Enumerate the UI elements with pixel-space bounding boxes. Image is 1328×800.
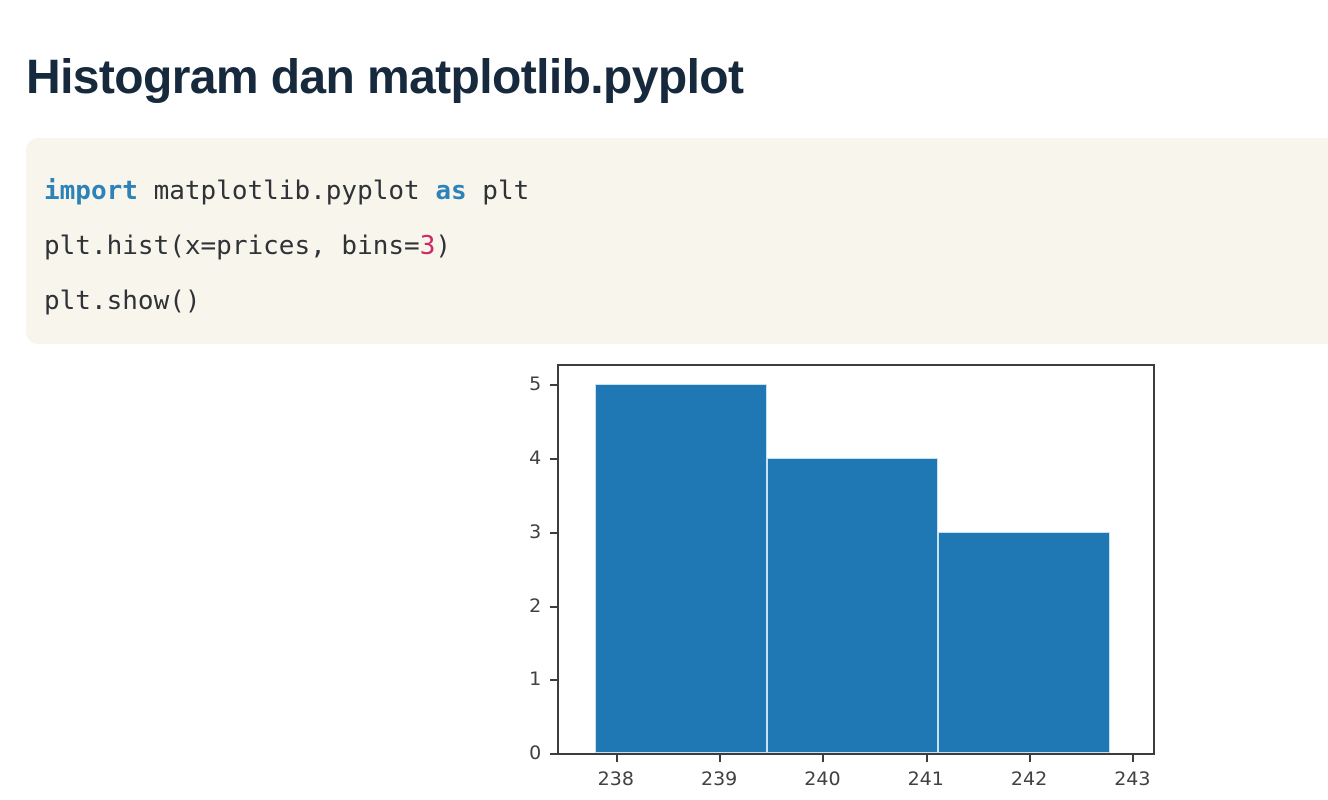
code-token-keyword-as: as [435,176,466,206]
y-axis-tick-label: 2 [529,595,541,617]
code-token-alias: plt [467,176,530,206]
code-line-1: import matplotlib.pyplot as plt [44,164,1328,219]
y-axis-tick [550,532,559,534]
plot-area [559,366,1153,753]
x-axis-tick [719,753,721,762]
y-axis-tick [550,384,559,386]
histogram-bar [767,458,938,753]
x-axis-tick-label: 241 [908,768,944,790]
y-axis-tick-label: 5 [529,373,541,395]
x-axis-tick [822,753,824,762]
y-axis-tick [550,753,559,755]
code-line-2: plt.hist(x=prices, bins=3) [44,219,1328,274]
code-line-3: plt.show() [44,274,1328,329]
x-axis-tick-label: 238 [598,768,634,790]
y-axis-tick [550,458,559,460]
x-axis-tick [1132,753,1134,762]
x-axis-tick-label: 243 [1114,768,1150,790]
histogram-bar [938,532,1109,753]
x-axis-tick-label: 239 [701,768,737,790]
histogram-chart: 012345238239240241242243 [470,340,1190,800]
code-token-module: matplotlib.pyplot [138,176,435,206]
x-axis-tick-label: 242 [1011,768,1047,790]
y-axis-tick [550,606,559,608]
y-axis-tick [550,679,559,681]
plot-frame: 012345238239240241242243 [557,364,1155,755]
code-token-keyword-import: import [44,176,138,206]
page-title: Histogram dan matplotlib.pyplot [26,50,743,105]
x-axis-tick [926,753,928,762]
y-axis-tick-label: 1 [529,668,541,690]
y-axis-tick-label: 0 [529,742,541,764]
x-axis-tick [616,753,618,762]
code-token-hist-call: plt.hist(x=prices, bins= [44,231,420,261]
code-token-bins-value: 3 [420,231,436,261]
code-block: import matplotlib.pyplot as pltplt.hist(… [26,138,1328,344]
histogram-bar [595,384,766,753]
code-token-close-paren: ) [435,231,451,261]
page-root: Histogram dan matplotlib.pyplot import m… [0,0,1328,800]
x-axis-tick-label: 240 [804,768,840,790]
x-axis-tick [1029,753,1031,762]
code-token-show-call: plt.show() [44,286,201,316]
y-axis-tick-label: 3 [529,521,541,543]
y-axis-tick-label: 4 [529,447,541,469]
